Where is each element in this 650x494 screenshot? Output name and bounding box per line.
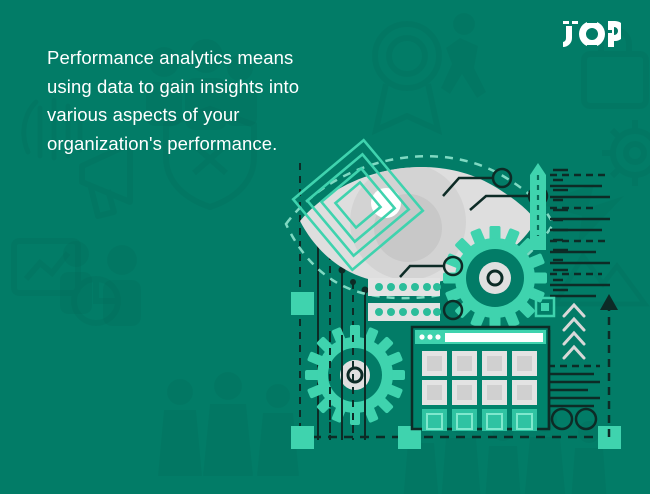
gear-icon-small — [305, 325, 405, 425]
text-placeholder-lines-bottom — [548, 366, 600, 406]
slide-canvas: Performance analytics means using data t… — [0, 0, 650, 494]
brand-logo[interactable] — [563, 21, 621, 52]
browser-window[interactable] — [412, 327, 549, 431]
url-bar[interactable] — [445, 333, 543, 342]
circle-nodes-bottom — [552, 409, 596, 429]
chevron-stack-up-icon — [564, 305, 584, 358]
page-title: Performance analytics means using data t… — [47, 44, 357, 158]
text-placeholder-lines-top — [550, 175, 610, 296]
jop-logo-icon — [563, 21, 621, 47]
gear-icon-large — [443, 226, 547, 330]
window-dots — [419, 334, 440, 339]
dashed-arrow-up-icon — [600, 294, 618, 437]
